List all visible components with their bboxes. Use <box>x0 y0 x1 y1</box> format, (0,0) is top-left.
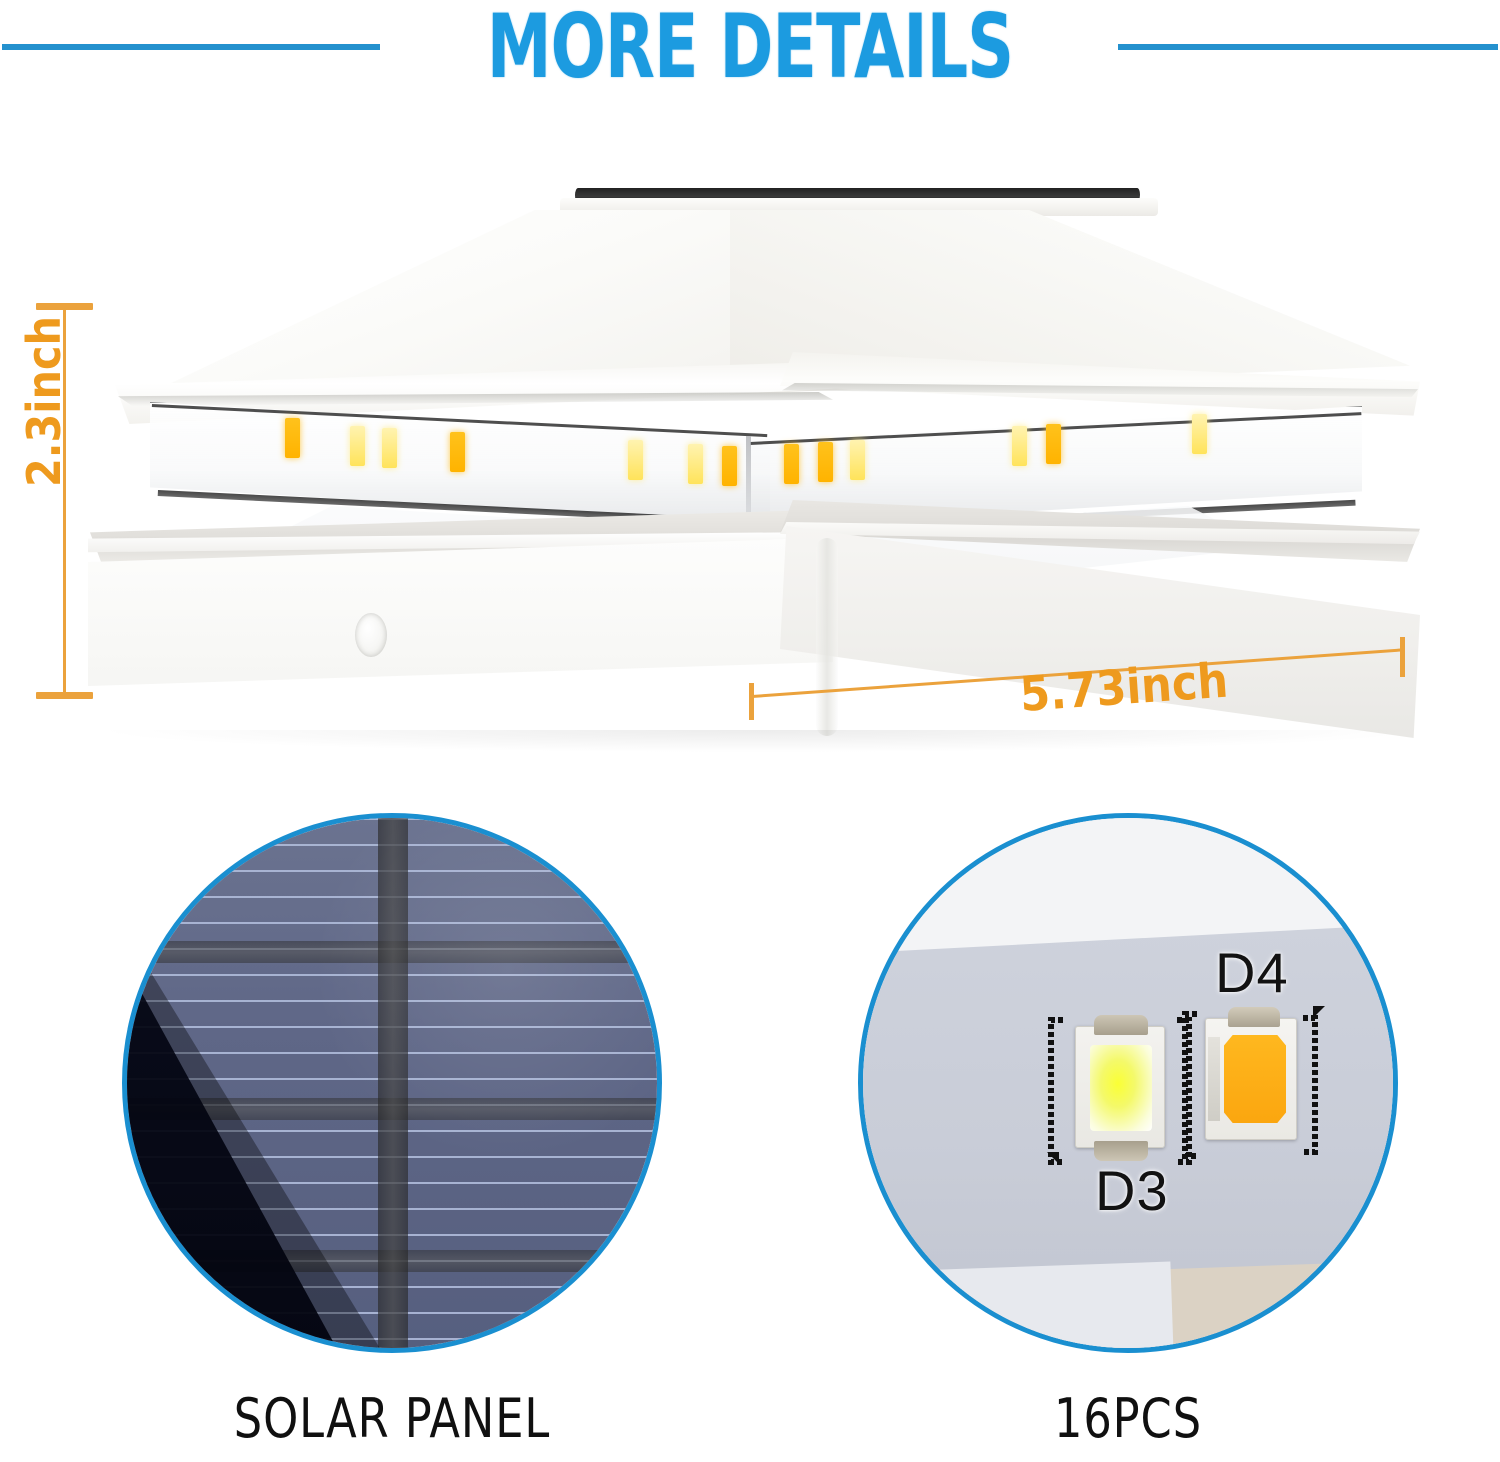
solar-panel-gloss <box>297 813 662 1178</box>
led-label-d4: D4 <box>1215 940 1289 1005</box>
width-dimension-label: 5.73inch <box>1018 653 1230 723</box>
d4-clip-top <box>1228 1007 1280 1027</box>
d4-measure-bracket <box>1179 1010 1205 1160</box>
width-dimension-tick-right <box>1400 637 1405 677</box>
width-dimension-tick-left <box>749 683 754 720</box>
d4-measure-bracket-right <box>1295 1000 1329 1160</box>
pcb-bottom-edge-light <box>858 1262 1175 1353</box>
led-callout-circle: D3 D4 <box>858 813 1398 1353</box>
header-banner: MORE DETAILS <box>0 0 1500 110</box>
d4-emitter-surface <box>1224 1035 1286 1123</box>
page-title: MORE DETAILS <box>135 0 1365 98</box>
detail-callout-row: SOLAR PANEL <box>0 795 1500 1462</box>
d3-emitter-surface <box>1090 1045 1152 1131</box>
d3-measure-bracket <box>1045 1016 1079 1166</box>
width-dimension-group: 5.73inch <box>0 110 1500 770</box>
led-chip-d3 <box>1075 1026 1165 1148</box>
d3-clip-top <box>1094 1015 1148 1035</box>
led-label-d3: D3 <box>1095 1158 1169 1223</box>
led-chip-d4 <box>1205 1018 1297 1140</box>
solar-panel-caption: SOLAR PANEL <box>144 1387 641 1450</box>
solar-panel-photo <box>127 818 657 1348</box>
d4-solder-pad <box>1208 1037 1220 1121</box>
product-hero-image: 2.3inch <box>0 110 1500 770</box>
led-count-caption: 16PCS <box>880 1387 1377 1450</box>
led-pcb-photo: D3 D4 <box>863 818 1393 1348</box>
solar-panel-callout-circle <box>122 813 662 1353</box>
